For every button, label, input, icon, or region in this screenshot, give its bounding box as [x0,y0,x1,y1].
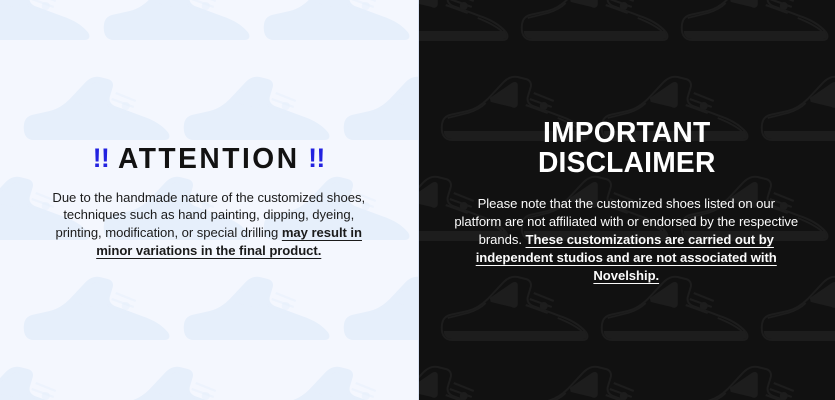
exclamation-right-icon: !! [308,143,324,173]
disclaimer-heading: IMPORTANT DISCLAIMER [455,118,797,179]
attention-heading-text: ATTENTION [118,143,300,175]
disclaimer-heading-line-2: DISCLAIMER [455,148,797,178]
disclaimer-body: Please note that the customized shoes li… [454,195,800,284]
attention-heading: !!ATTENTION!! [53,145,365,174]
disclaimer-panel: IMPORTANT DISCLAIMER Please note that th… [418,0,835,400]
attention-content: !!ATTENTION!! Due to the handmade nature… [0,145,418,259]
exclamation-left-icon: !! [93,143,109,173]
customization-notice-banner: !!ATTENTION!! Due to the handmade nature… [0,0,835,400]
disclaimer-content: IMPORTANT DISCLAIMER Please note that th… [418,118,835,285]
attention-panel: !!ATTENTION!! Due to the handmade nature… [0,0,418,400]
disclaimer-heading-line-1: IMPORTANT [455,118,797,148]
attention-body: Due to the handmade nature of the custom… [48,189,370,259]
panel-divider [418,0,419,400]
